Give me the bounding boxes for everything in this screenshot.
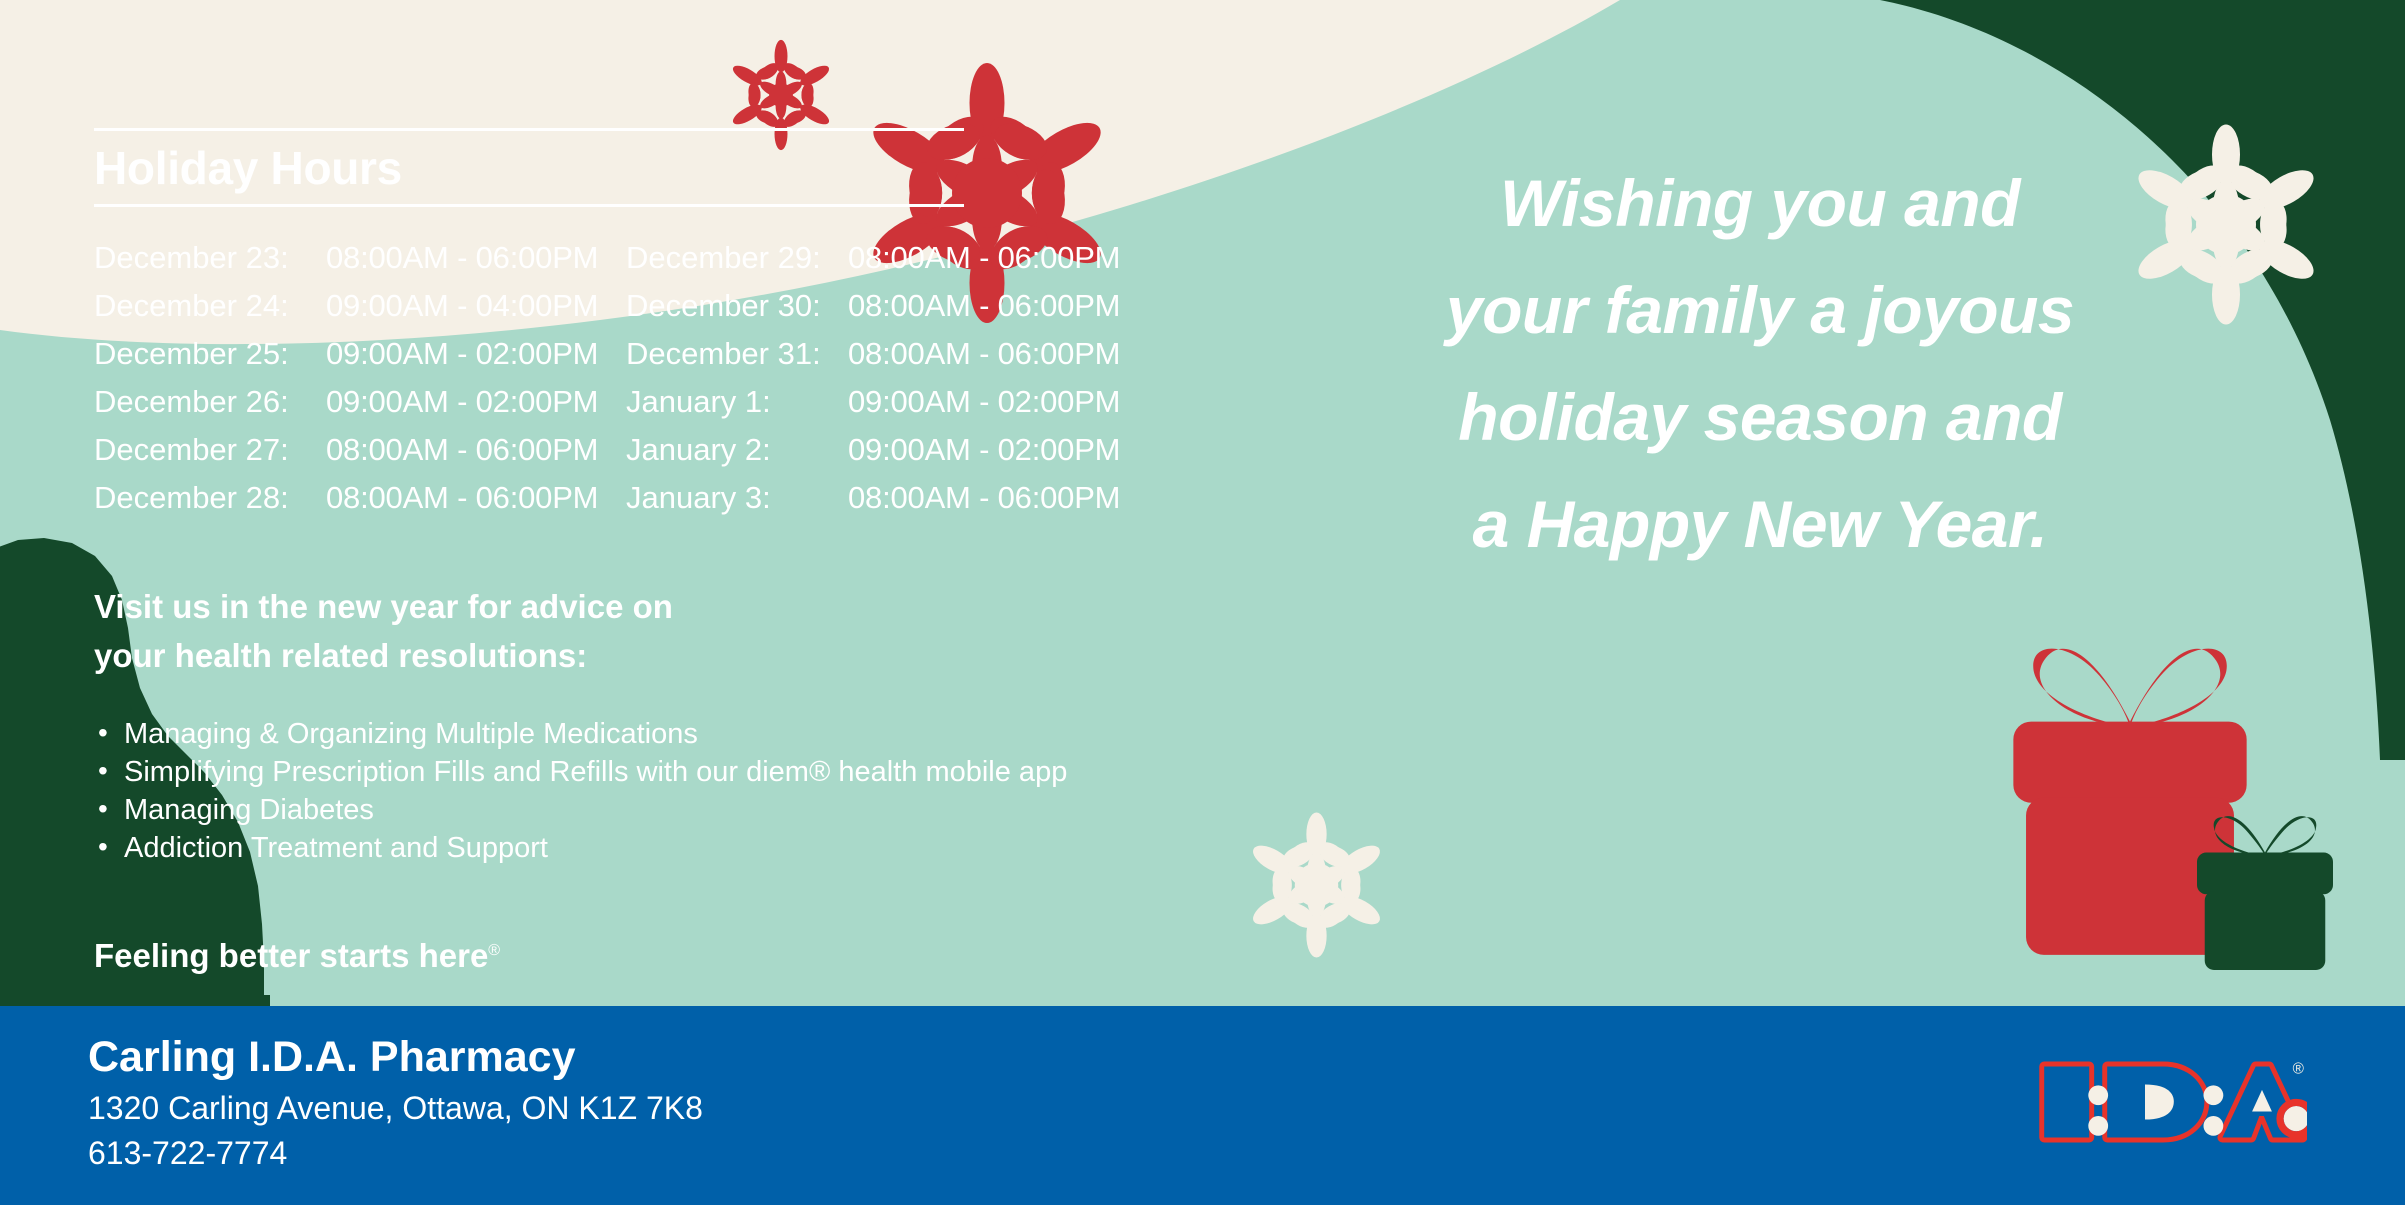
- hours-time: 09:00AM - 02:00PM: [326, 330, 626, 378]
- hours-section: Holiday Hours December 23: 08:00AM - 06:…: [94, 128, 1194, 975]
- list-item: Simplifying Prescription Fills and Refil…: [94, 753, 1194, 791]
- hours-time: 08:00AM - 06:00PM: [848, 282, 1194, 330]
- greeting-line: your family a joyous: [1380, 257, 2140, 364]
- list-item: Managing Diabetes: [94, 791, 1194, 829]
- ida-logo: ®: [2037, 1050, 2307, 1154]
- greeting-line: a Happy New Year.: [1380, 471, 2140, 578]
- hours-date: December 26:: [94, 378, 326, 426]
- hours-time: 09:00AM - 04:00PM: [326, 282, 626, 330]
- store-address: 1320 Carling Avenue, Ottawa, ON K1Z 7K8: [88, 1086, 703, 1131]
- greeting-message: Wishing you and your family a joyous hol…: [1380, 150, 2140, 578]
- hours-date: December 29:: [626, 234, 848, 282]
- registered-mark: ®: [488, 942, 500, 959]
- hours-time: 08:00AM - 06:00PM: [848, 330, 1194, 378]
- holiday-banner: Holiday Hours December 23: 08:00AM - 06:…: [0, 0, 2405, 1205]
- hours-date: December 30:: [626, 282, 848, 330]
- hours-date: January 3:: [626, 474, 848, 522]
- hours-date: December 31:: [626, 330, 848, 378]
- promo-heading-line: your health related resolutions:: [94, 631, 734, 680]
- greeting-line: holiday season and: [1380, 364, 2140, 471]
- hours-time: 09:00AM - 02:00PM: [848, 378, 1194, 426]
- page-title: Holiday Hours: [94, 131, 1194, 204]
- hours-date: December 27:: [94, 426, 326, 474]
- registered-mark: ®: [2293, 1061, 2305, 1078]
- hours-time: 08:00AM - 06:00PM: [326, 234, 626, 282]
- store-name: Carling I.D.A. Pharmacy: [88, 1028, 703, 1086]
- store-phone: 613-722-7774: [88, 1131, 703, 1176]
- footer-bar: Carling I.D.A. Pharmacy 1320 Carling Ave…: [0, 1006, 2405, 1205]
- hours-time: 09:00AM - 02:00PM: [848, 426, 1194, 474]
- hours-time: 08:00AM - 06:00PM: [848, 474, 1194, 522]
- promo-heading-line: Visit us in the new year for advice on: [94, 582, 734, 631]
- greeting-line: Wishing you and: [1380, 150, 2140, 257]
- hours-time: 08:00AM - 06:00PM: [326, 474, 626, 522]
- list-item: Addiction Treatment and Support: [94, 829, 1194, 867]
- hours-date: January 1:: [626, 378, 848, 426]
- divider-bottom: [94, 204, 964, 207]
- hours-time: 08:00AM - 06:00PM: [848, 234, 1194, 282]
- list-item: Managing & Organizing Multiple Medicatio…: [94, 715, 1194, 753]
- tagline-text: Feeling better starts here: [94, 937, 488, 974]
- hours-time: 09:00AM - 02:00PM: [326, 378, 626, 426]
- hours-date: December 24:: [94, 282, 326, 330]
- hours-time: 08:00AM - 06:00PM: [326, 426, 626, 474]
- hours-date: December 28:: [94, 474, 326, 522]
- holiday-hours-table: December 23: 08:00AM - 06:00PM December …: [94, 234, 1194, 522]
- promo-heading: Visit us in the new year for advice on y…: [94, 582, 734, 680]
- hours-date: December 23:: [94, 234, 326, 282]
- hours-date: January 2:: [626, 426, 848, 474]
- brand-tagline: Feeling better starts here®: [94, 937, 1194, 975]
- hours-date: December 25:: [94, 330, 326, 378]
- services-list: Managing & Organizing Multiple Medicatio…: [94, 715, 1194, 867]
- store-details: Carling I.D.A. Pharmacy 1320 Carling Ave…: [88, 1028, 703, 1176]
